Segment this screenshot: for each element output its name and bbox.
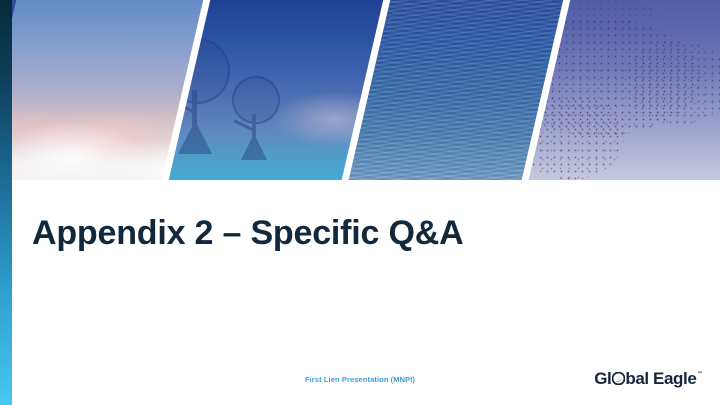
satellite-dish-small [232,76,288,158]
presentation-slide: Appendix 2 – Specific Q&A First Lien Pre… [0,0,720,405]
global-eagle-logo: Gl bal Eagle ™ [594,370,702,387]
logo-text-before-mark: Gl [594,370,611,387]
eagle-mark-icon [612,371,625,384]
logo-wordmark: Gl bal Eagle ™ [594,370,702,387]
trademark-symbol: ™ [697,372,702,377]
crowd-cluster-right [632,42,720,126]
logo-text-after-mark: bal Eagle [625,370,696,387]
banner-bottom-edge [12,180,720,183]
page-title: Appendix 2 – Specific Q&A [32,214,463,253]
left-accent-bar [0,0,12,405]
header-image-banner [12,0,720,182]
